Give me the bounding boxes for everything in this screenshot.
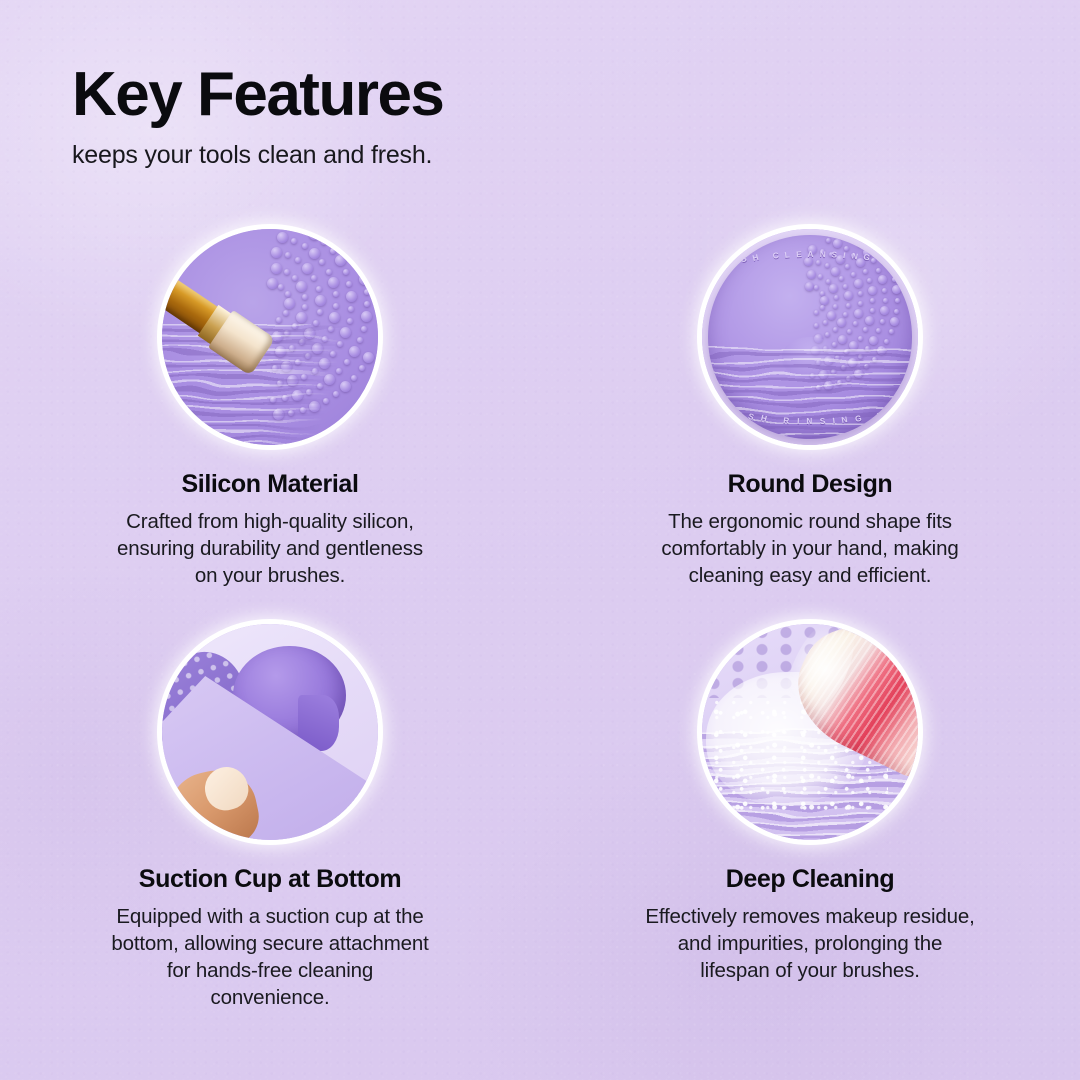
feature-image-wrap (159, 226, 381, 448)
page-header: Key Features keeps your tools clean and … (72, 62, 443, 170)
emboss-text-bottom: BRUSH RINSING PAD (708, 417, 911, 426)
feature-description: Equipped with a suction cup at the botto… (105, 903, 435, 1011)
round-pad-image: BRUSH CLEANSING PAD BRUSH RINSING PAD (702, 229, 918, 445)
feature-card-deep-cleaning: Deep Cleaning Effectively removes makeup… (540, 621, 1080, 1011)
feature-description: Effectively removes makeup residue, and … (645, 903, 975, 984)
feature-title: Suction Cup at Bottom (139, 865, 401, 894)
feature-image-wrap (159, 621, 381, 843)
feature-description: Crafted from high-quality silicon, ensur… (105, 508, 435, 589)
page-subtitle: keeps your tools clean and fresh. (72, 141, 443, 170)
feature-title: Silicon Material (182, 470, 359, 499)
features-grid: Silicon Material Crafted from high-quali… (0, 226, 1080, 1011)
key-features-page: Key Features keeps your tools clean and … (0, 0, 1080, 1080)
round-silicone-pad: BRUSH CLEANSING PAD BRUSH RINSING PAD (708, 235, 911, 438)
page-title: Key Features (72, 62, 443, 127)
feature-card-silicon-material: Silicon Material Crafted from high-quali… (0, 226, 540, 589)
feature-card-suction-cup-at-bottom: Suction Cup at Bottom Equipped with a su… (0, 621, 540, 1011)
suction-cup-image (162, 624, 378, 840)
feature-card-round-design: BRUSH CLEANSING PAD BRUSH RINSING PAD Ro… (540, 226, 1080, 589)
deep-cleaning-image (702, 624, 918, 840)
silicone-pad-closeup-image (162, 229, 378, 445)
emboss-text-top: BRUSH CLEANSING PAD (708, 250, 911, 259)
feature-title: Round Design (728, 470, 893, 499)
feature-title: Deep Cleaning (726, 865, 894, 894)
feature-image-wrap (699, 621, 921, 843)
feature-description: The ergonomic round shape fits comfortab… (645, 508, 975, 589)
feature-image-wrap: BRUSH CLEANSING PAD BRUSH RINSING PAD (699, 226, 921, 448)
